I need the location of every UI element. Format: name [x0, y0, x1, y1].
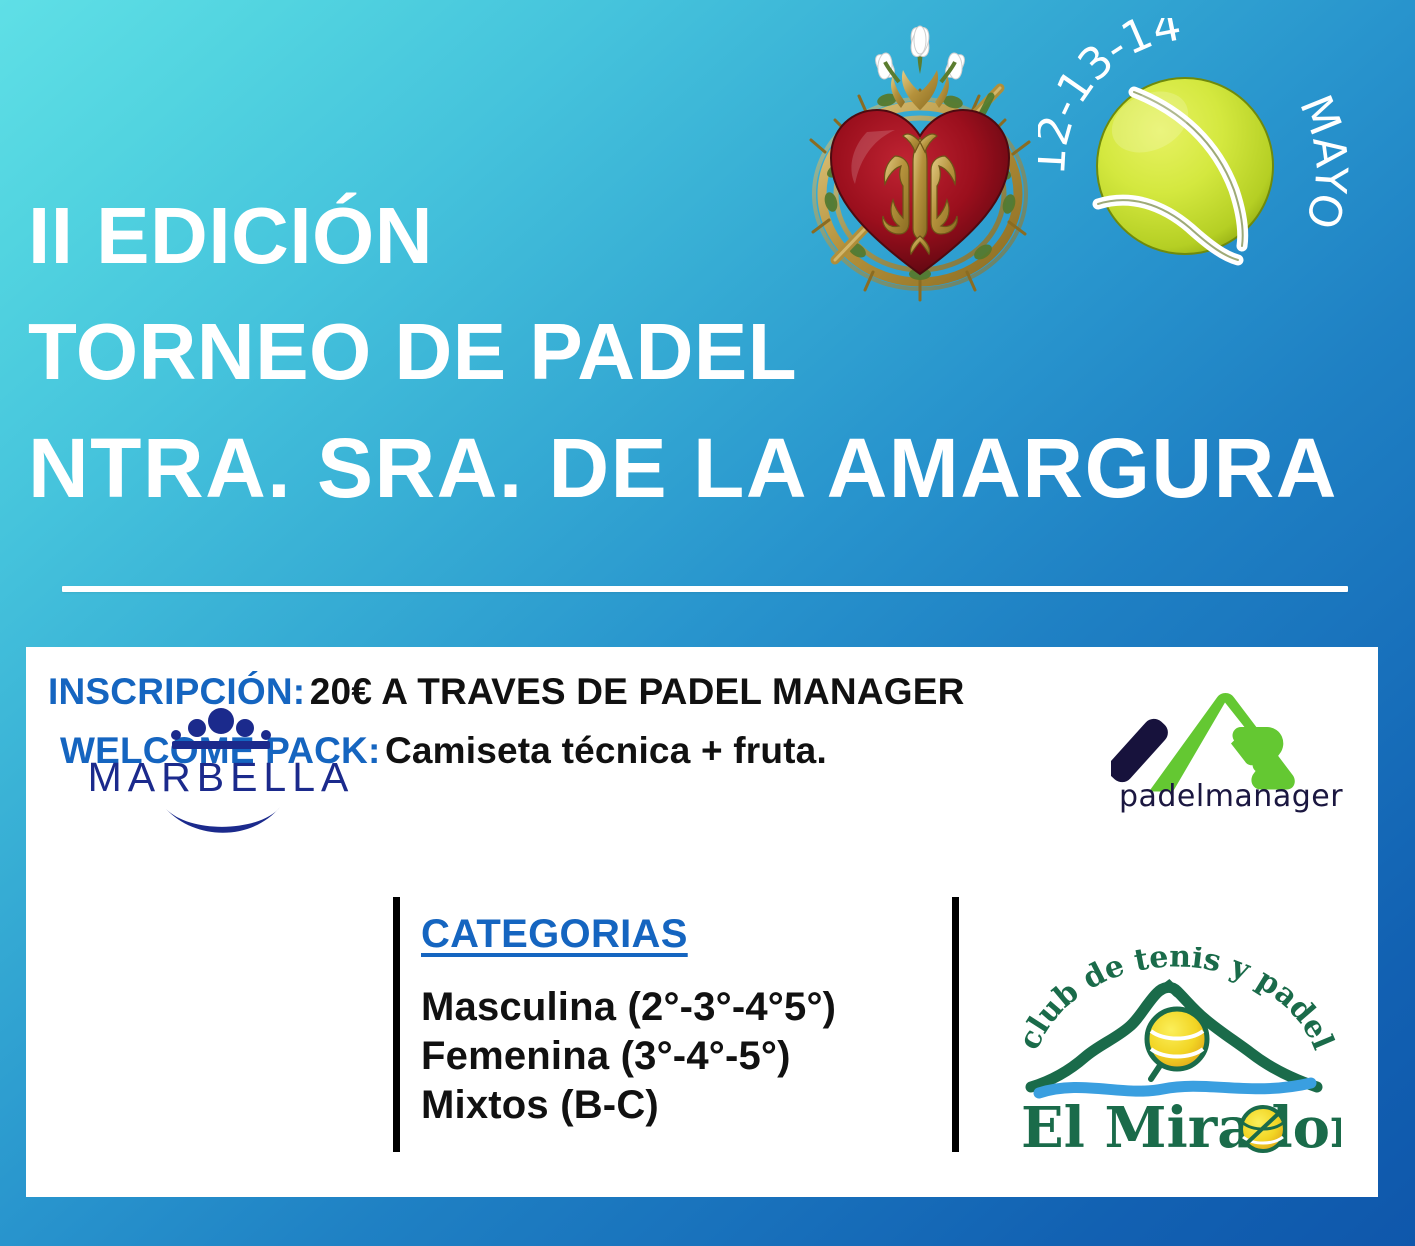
category-item: Masculina (2°-3°-4°5°) — [421, 983, 941, 1032]
inscripcion-value: 20€ A TRAVES DE PADEL MANAGER — [310, 671, 965, 712]
mirador-wordmark: El Mirador — [1021, 1095, 1341, 1157]
title-line-2: TORNEO DE PADEL — [28, 312, 1388, 392]
divider-right — [952, 897, 959, 1152]
poster-title: II EDICIÓN TORNEO DE PADEL NTRA. SRA. DE… — [28, 196, 1388, 510]
title-divider — [62, 586, 1348, 592]
inscripcion-label: INSCRIPCIÓN: — [48, 671, 305, 712]
marbella-wordmark: MARBELLA — [88, 754, 355, 800]
padelmanager-wordmark: padelmanager — [1111, 779, 1351, 814]
category-item: Mixtos (B-C) — [421, 1081, 941, 1130]
info-card: INSCRIPCIÓN: 20€ A TRAVES DE PADEL MANAG… — [26, 647, 1378, 1197]
divider-left — [393, 897, 400, 1152]
marbella-logo-icon: MARBELLA — [66, 707, 376, 847]
categories-heading: CATEGORIAS — [421, 912, 941, 957]
category-item: Femenina (3°-4°-5°) — [421, 1032, 941, 1081]
categories-block: CATEGORIAS Masculina (2°-3°-4°5°) Femeni… — [421, 912, 941, 1129]
el-mirador-logo-icon: club de tenis y padel El Mirador — [1011, 947, 1341, 1157]
tournament-poster: 12-13-14 MAYO II EDICIÓN TORNEO DE PADEL… — [0, 0, 1415, 1246]
welcome-pack-value: Camiseta técnica + fruta. — [385, 730, 827, 771]
title-line-3: NTRA. SRA. DE LA AMARGURA — [28, 426, 1388, 510]
title-line-1: II EDICIÓN — [28, 196, 1388, 276]
info-row: INSCRIPCIÓN: 20€ A TRAVES DE PADEL MANAG… — [48, 673, 1118, 710]
